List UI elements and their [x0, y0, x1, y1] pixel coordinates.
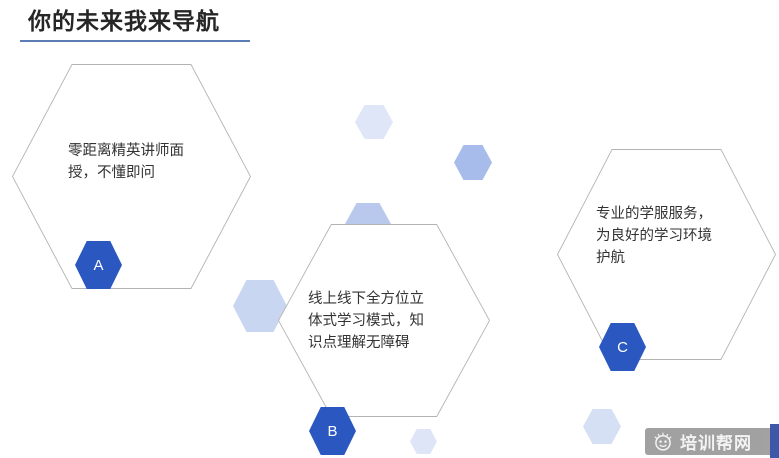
- hexagon-card-b-text: 线上线下全方位立 体式学习模式，知 识点理解无障碍: [308, 288, 473, 354]
- smiley-face-icon: [653, 432, 673, 452]
- watermark-text: 培训帮网: [680, 429, 752, 454]
- watermark-edge-accent: [770, 424, 779, 458]
- watermark: 培训帮网: [645, 428, 779, 455]
- hexagon-badge-b-label: B: [327, 424, 337, 439]
- slide-canvas: 你的未来我来导航 零距离精英讲师面 授，不懂即问 A 线上线下全方位立 体式学习…: [0, 0, 779, 458]
- hexagon-badge-a-label: A: [93, 258, 103, 273]
- hexagon-badge-c-label: C: [617, 340, 628, 355]
- deco-hex-2: [454, 145, 492, 180]
- deco-hex-1: [355, 105, 393, 139]
- hexagon-card-c-text: 专业的学服服务， 为良好的学习环境 护航: [596, 203, 756, 269]
- page-title: 你的未来我来导航: [28, 6, 220, 36]
- hexagon-card-a-text: 零距离精英讲师面 授，不懂即问: [68, 140, 228, 184]
- title-block: 你的未来我来导航: [20, 4, 320, 44]
- title-underline: [20, 40, 250, 42]
- deco-hex-6: [583, 409, 621, 444]
- deco-hex-4: [233, 280, 287, 332]
- deco-hex-5: [410, 429, 437, 454]
